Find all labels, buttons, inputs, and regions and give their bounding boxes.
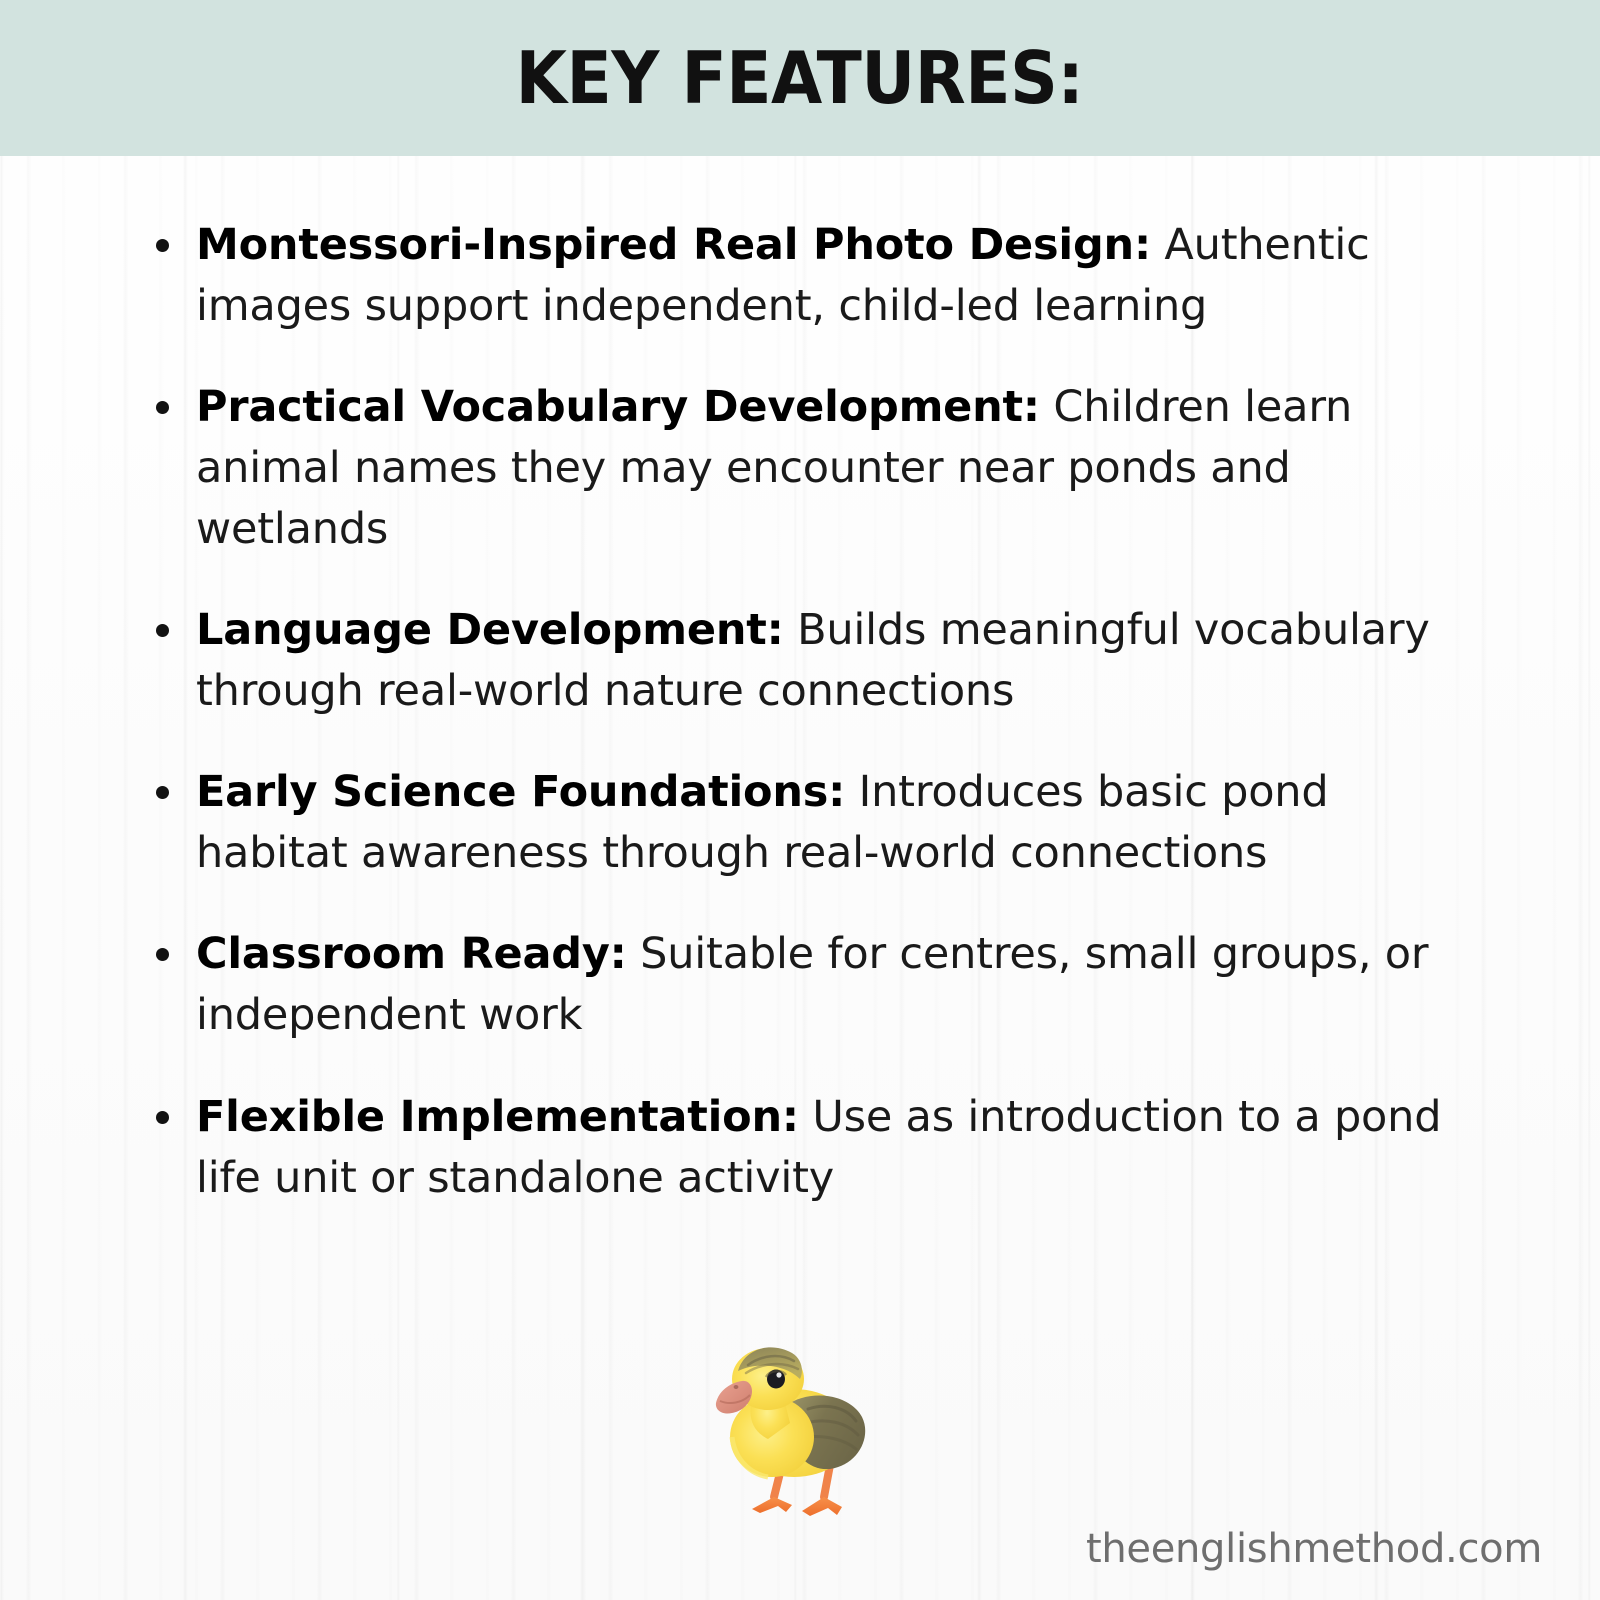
feature-label: Flexible Implementation: — [196, 1092, 799, 1142]
bullet-icon — [156, 239, 169, 252]
bullet-icon — [156, 401, 169, 414]
page-title: KEY FEATURES: — [516, 42, 1084, 114]
features-list: Montessori-Inspired Real Photo Design: A… — [148, 215, 1468, 1209]
bullet-icon — [156, 1111, 169, 1124]
list-item: Classroom Ready: Suitable for centres, s… — [148, 924, 1468, 1046]
key-features-slide: KEY FEATURES: Montessori-Inspired Real P… — [0, 0, 1600, 1600]
duckling-photo — [690, 1305, 915, 1525]
bullet-icon — [156, 948, 169, 961]
feature-label: Early Science Foundations: — [196, 767, 845, 817]
feature-label: Montessori-Inspired Real Photo Design: — [196, 220, 1151, 270]
list-item: Practical Vocabulary Development: Childr… — [148, 377, 1468, 560]
feature-label: Classroom Ready: — [196, 929, 627, 979]
list-item: Language Development: Builds meaningful … — [148, 600, 1468, 722]
header-band: KEY FEATURES: — [0, 0, 1600, 156]
feature-label: Language Development: — [196, 605, 784, 655]
list-item: Early Science Foundations: Introduces ba… — [148, 762, 1468, 884]
site-url-text: theenglishmethod.com — [1086, 1526, 1542, 1572]
list-item: Montessori-Inspired Real Photo Design: A… — [148, 215, 1468, 337]
bullet-icon — [156, 786, 169, 799]
list-item: Flexible Implementation: Use as introduc… — [148, 1087, 1468, 1209]
bullet-icon — [156, 624, 169, 637]
feature-label: Practical Vocabulary Development: — [196, 382, 1040, 432]
